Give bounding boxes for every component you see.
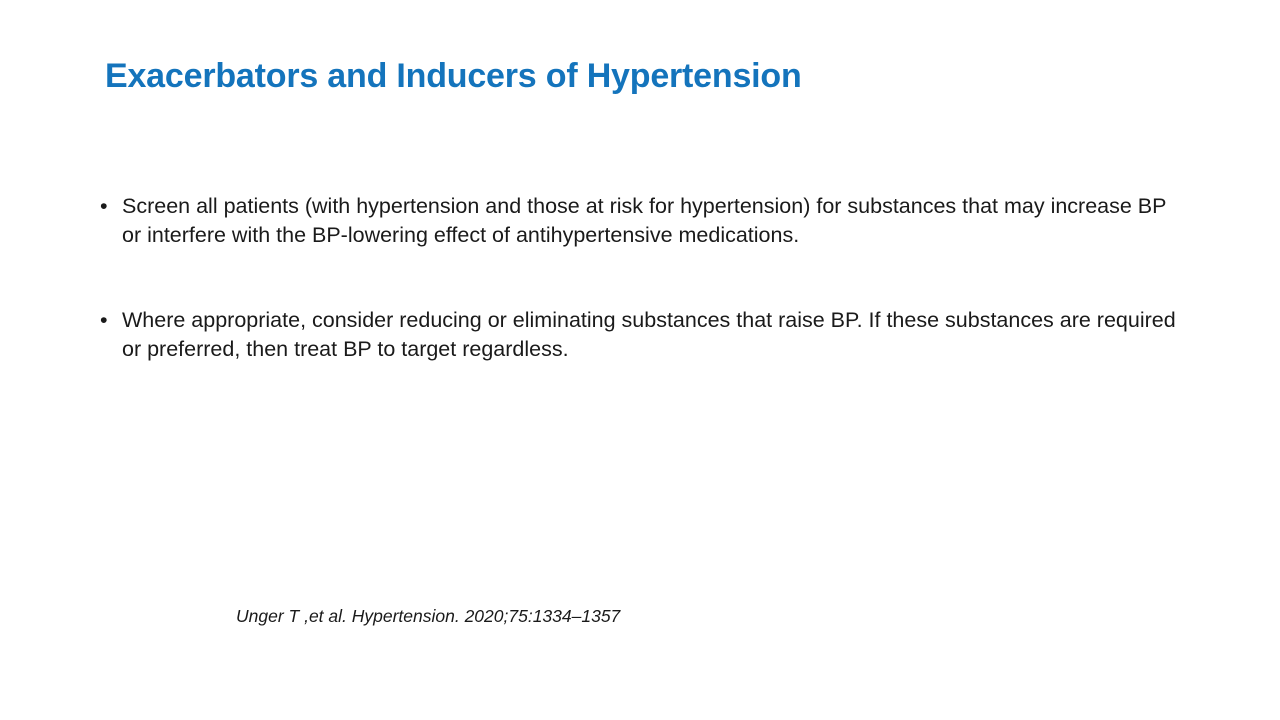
- bullet-list: • Screen all patients (with hypertension…: [98, 192, 1183, 364]
- bullet-point-icon: •: [100, 192, 116, 221]
- list-item: • Where appropriate, consider reducing o…: [98, 306, 1183, 364]
- slide-canvas: Exacerbators and Inducers of Hypertensio…: [0, 0, 1280, 720]
- list-item-text: Screen all patients (with hypertension a…: [122, 192, 1183, 250]
- list-item-text: Where appropriate, consider reducing or …: [122, 306, 1183, 364]
- source-citation: Unger T ,et al. Hypertension. 2020;75:13…: [236, 604, 620, 628]
- page-title: Exacerbators and Inducers of Hypertensio…: [105, 54, 1185, 98]
- bullet-point-icon: •: [100, 306, 116, 335]
- list-item: • Screen all patients (with hypertension…: [98, 192, 1183, 250]
